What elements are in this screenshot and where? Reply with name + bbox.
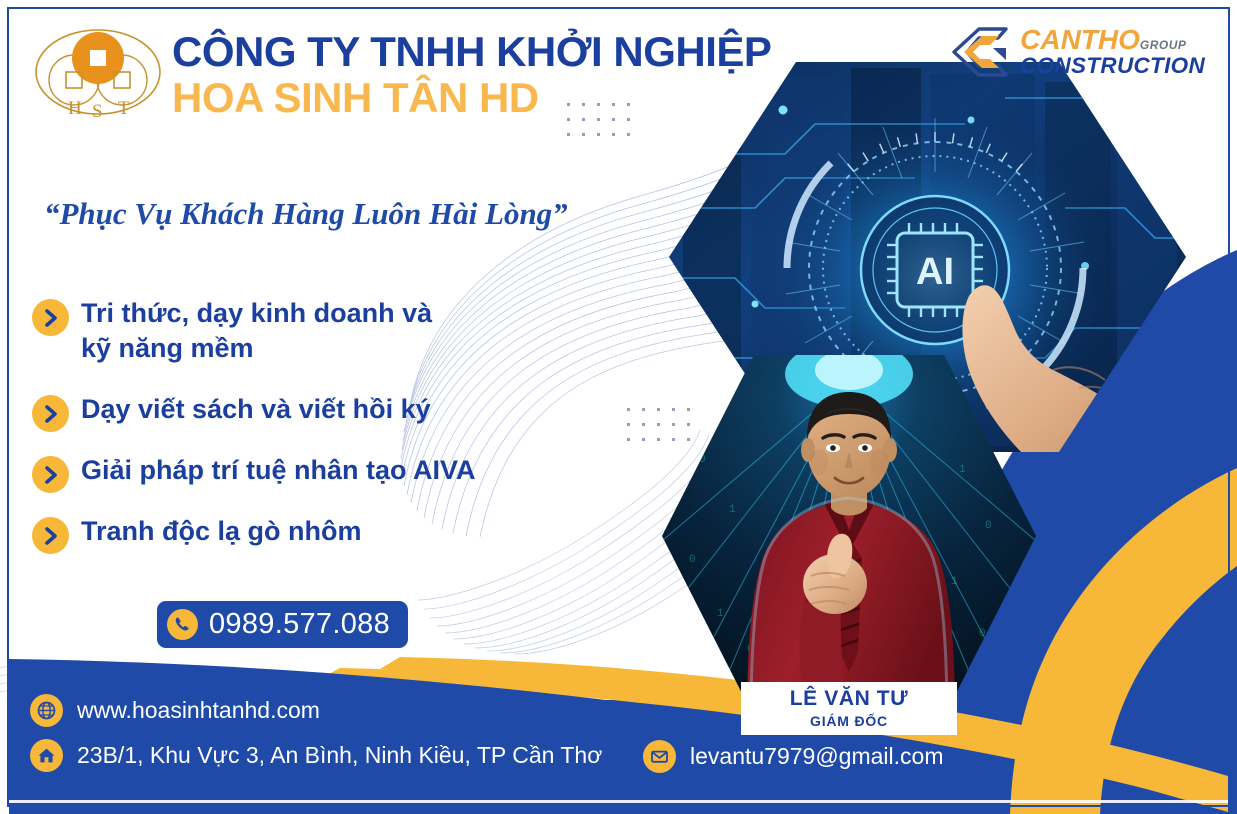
service-item-label: Tri thức, dạy kinh doanh vàkỹ năng mềm xyxy=(81,295,432,365)
svg-text:0: 0 xyxy=(985,520,992,532)
ai-chip-label: AI xyxy=(916,251,954,293)
chevron-right-icon xyxy=(32,299,69,336)
cantho-name-group: GROUP xyxy=(1140,39,1187,54)
phone-number-label: 0989.577.088 xyxy=(209,608,390,641)
service-item: Tranh độc lạ gò nhôm xyxy=(32,513,592,554)
service-item: Tri thức, dạy kinh doanh vàkỹ năng mềm xyxy=(32,295,592,365)
company-name-line2: HOA SINH TÂN HD xyxy=(172,74,771,121)
service-item-label: Giải pháp trí tuệ nhân tạo AIVA xyxy=(81,452,476,488)
svg-text:0: 0 xyxy=(979,628,986,640)
company-slogan: “Phục Vụ Khách Hàng Luôn Hài Lòng” xyxy=(44,196,568,232)
home-icon xyxy=(30,739,63,772)
business-card-banner: AI xyxy=(0,0,1237,814)
service-item: Dạy viết sách và viết hồi ký xyxy=(32,391,592,432)
hst-company-logo-icon: H S T xyxy=(30,22,166,130)
phone-icon xyxy=(167,609,198,640)
website-label: www.hoasinhtanhd.com xyxy=(77,697,320,724)
svg-text:1: 1 xyxy=(951,576,958,588)
contact-address: 23B/1, Khu Vực 3, An Bình, Ninh Kiều, TP… xyxy=(30,739,602,772)
svg-text:0: 0 xyxy=(689,554,696,566)
hexagon-portrait-photo: 010 101 010 10 xyxy=(659,352,1039,720)
svg-text:1: 1 xyxy=(729,504,736,516)
header: H S T CÔNG TY TNHH KHỞI NGHIỆP HOA SINH … xyxy=(30,22,771,130)
cantho-name-construction: CONSTRUCTION xyxy=(1020,55,1205,78)
svg-text:0: 0 xyxy=(699,454,706,466)
chevron-right-icon xyxy=(32,517,69,554)
person-role: GIÁM ĐỐC xyxy=(810,713,888,729)
service-item-label: Dạy viết sách và viết hồi ký xyxy=(81,391,431,427)
contact-website[interactable]: www.hoasinhtanhd.com xyxy=(30,694,602,727)
globe-icon xyxy=(30,694,63,727)
svg-text:1: 1 xyxy=(959,464,966,476)
chevron-right-icon xyxy=(32,456,69,493)
company-name-block: CÔNG TY TNHH KHỞI NGHIỆP HOA SINH TÂN HD xyxy=(172,31,771,121)
cantho-name-main: CANTHO xyxy=(1020,26,1140,54)
partner-logo-cantho[interactable]: CANTHO GROUP CONSTRUCTION xyxy=(949,26,1205,78)
svg-text:1: 1 xyxy=(717,608,724,620)
company-name-line1: CÔNG TY TNHH KHỞI NGHIỆP xyxy=(172,31,771,74)
person-name: LÊ VĂN TƯ xyxy=(790,688,909,710)
service-item-label: Tranh độc lạ gò nhôm xyxy=(81,513,362,549)
phone-button[interactable]: 0989.577.088 xyxy=(157,601,408,648)
logo-letter-t: T xyxy=(118,98,130,119)
person-name-plate: LÊ VĂN TƯ GIÁM ĐỐC xyxy=(741,682,957,735)
chevron-right-icon xyxy=(32,395,69,432)
footer-contacts: www.hoasinhtanhd.com 23B/1, Khu Vực 3, A… xyxy=(30,694,602,784)
service-item: Giải pháp trí tuệ nhân tạo AIVA xyxy=(32,452,592,493)
cantho-wordmark: CANTHO GROUP CONSTRUCTION xyxy=(1020,26,1205,78)
envelope-icon xyxy=(643,740,676,773)
cantho-c-mark-icon xyxy=(949,26,1011,78)
email-label: levantu7979@gmail.com xyxy=(690,743,943,770)
address-label: 23B/1, Khu Vực 3, An Bình, Ninh Kiều, TP… xyxy=(77,742,602,769)
logo-letter-s: S xyxy=(92,101,103,122)
services-list: Tri thức, dạy kinh doanh vàkỹ năng mềm D… xyxy=(32,295,592,574)
logo-letter-h: H xyxy=(68,98,82,119)
contact-email[interactable]: levantu7979@gmail.com xyxy=(643,740,943,773)
